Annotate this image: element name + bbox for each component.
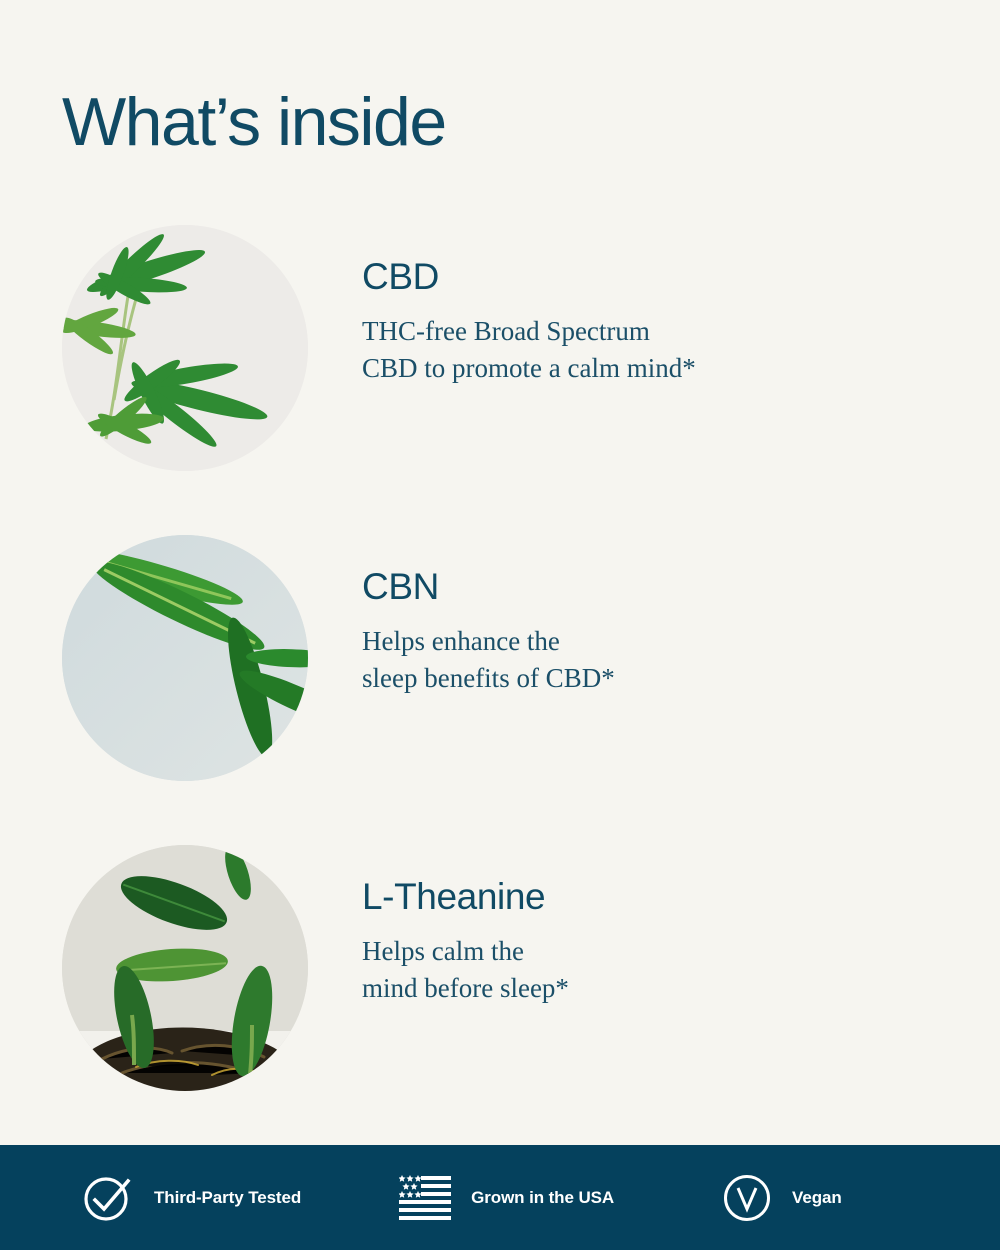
cannabis-leaf-blades-illustration	[62, 535, 308, 781]
ingredient-description: Helps enhance the sleep benefits of CBD*	[362, 623, 922, 696]
badge-label: Third-Party Tested	[154, 1188, 301, 1208]
cannabis-leaves-illustration	[62, 225, 308, 471]
ingredient-name: L-Theanine	[362, 878, 922, 917]
ingredient-image-cbd	[62, 225, 308, 471]
ingredient-text-cbn: CBN Helps enhance the sleep benefits of …	[362, 568, 922, 696]
check-circle-icon	[82, 1172, 134, 1224]
ingredient-description: Helps calm the mind before sleep*	[362, 933, 922, 1006]
ingredient-row-cbd: CBD THC-free Broad Spectrum CBD to promo…	[0, 210, 1000, 520]
trust-badge-footer: Third-Party Tested	[0, 1145, 1000, 1250]
badge-label: Grown in the USA	[471, 1188, 614, 1208]
vegan-v-icon	[722, 1173, 772, 1223]
page-title: What’s inside	[62, 88, 446, 156]
ingredient-text-l-theanine: L-Theanine Helps calm the mind before sl…	[362, 878, 922, 1006]
ingredient-list: CBD THC-free Broad Spectrum CBD to promo…	[0, 210, 1000, 1140]
ingredient-row-cbn: CBN Helps enhance the sleep benefits of …	[0, 520, 1000, 830]
badge-label: Vegan	[792, 1188, 842, 1208]
ingredient-image-cbn	[62, 535, 308, 781]
badge-third-party-tested: Third-Party Tested	[82, 1172, 301, 1224]
ingredient-image-l-theanine	[62, 845, 308, 1091]
ingredient-name: CBN	[362, 568, 922, 607]
ingredient-text-cbd: CBD THC-free Broad Spectrum CBD to promo…	[362, 258, 922, 386]
ingredient-name: CBD	[362, 258, 922, 297]
ingredient-description: THC-free Broad Spectrum CBD to promote a…	[362, 313, 922, 386]
badge-vegan: Vegan	[722, 1173, 842, 1223]
tea-leaves-illustration	[62, 845, 308, 1091]
badge-grown-in-the-usa: Grown in the USA	[399, 1174, 614, 1222]
usa-flag-icon	[399, 1174, 451, 1222]
ingredient-row-l-theanine: L-Theanine Helps calm the mind before sl…	[0, 830, 1000, 1140]
